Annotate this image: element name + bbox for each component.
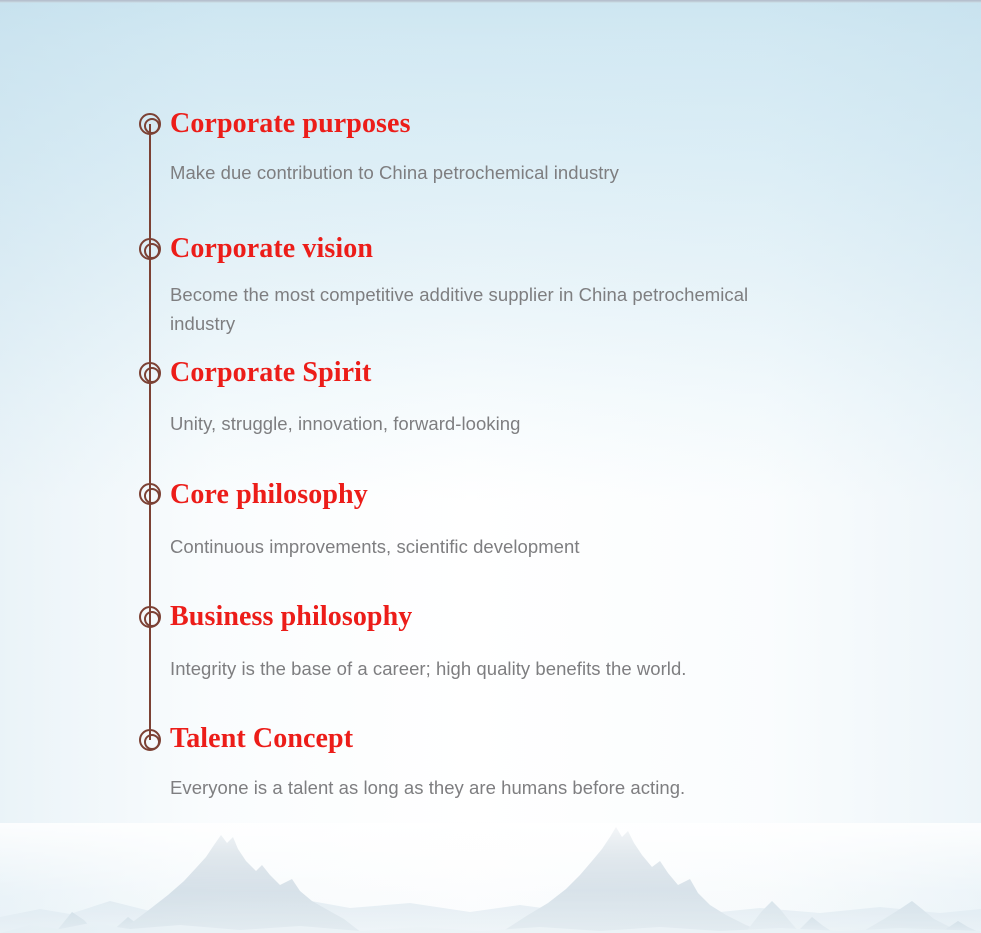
timeline-item-heading: Business philosophy [170, 601, 412, 633]
double-circle-icon [139, 362, 161, 384]
timeline-axis-line [149, 124, 151, 740]
double-circle-icon [139, 483, 161, 505]
timeline-item-body: Become the most competitive additive sup… [170, 280, 760, 338]
timeline-item-body: Make due contribution to China petrochem… [170, 158, 619, 187]
timeline-item-body: Unity, struggle, innovation, forward-loo… [170, 409, 520, 438]
double-circle-icon [139, 606, 161, 628]
double-circle-icon [139, 113, 161, 135]
timeline-item-heading: Corporate vision [170, 233, 373, 265]
timeline-item-heading: Talent Concept [170, 723, 353, 755]
timeline-item-heading: Corporate purposes [170, 108, 411, 140]
culture-page: Corporate purposes Make due contribution… [0, 0, 981, 933]
timeline-item-heading: Corporate Spirit [170, 357, 371, 389]
timeline-item-body: Everyone is a talent as long as they are… [170, 773, 685, 802]
timeline-item-body: Integrity is the base of a career; high … [170, 654, 687, 683]
double-circle-icon [139, 238, 161, 260]
timeline-item-body: Continuous improvements, scientific deve… [170, 532, 580, 561]
culture-timeline: Corporate purposes Make due contribution… [0, 0, 981, 933]
timeline-item-heading: Core philosophy [170, 479, 368, 511]
double-circle-icon [139, 729, 161, 751]
